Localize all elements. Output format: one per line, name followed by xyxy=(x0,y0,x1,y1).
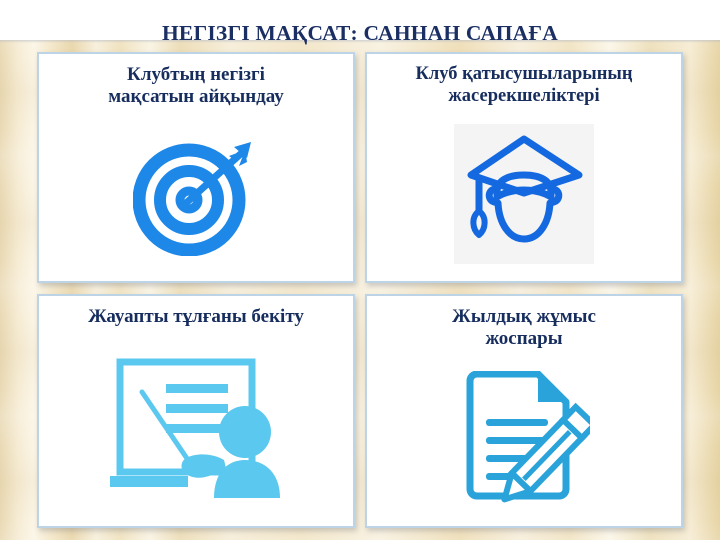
document-with-pencil-icon xyxy=(458,371,590,505)
card-responsible-art xyxy=(39,328,353,526)
card-plan-art xyxy=(367,351,681,526)
page-title: НЕГІЗГІ МАҚСАТ: САННАН САПАҒА xyxy=(0,21,720,46)
slide-canvas: НЕГІЗГІ МАҚСАТ: САННАН САПАҒА Клубтың не… xyxy=(0,0,720,540)
teacher-at-board-icon xyxy=(104,356,288,498)
card-goal-title: Клубтың негізгі мақсатын айқындау xyxy=(52,64,341,109)
card-age[interactable]: Клуб қатысушыларының жасерекшеліктері xyxy=(365,52,683,283)
target-with-arrow-icon xyxy=(133,134,259,256)
card-responsible[interactable]: Жауапты тұлғаны бекіту xyxy=(37,294,355,528)
card-plan[interactable]: Жылдық жұмыс жоспары xyxy=(365,294,683,528)
graduation-cap-icon xyxy=(461,131,587,257)
card-age-art xyxy=(367,108,681,281)
card-grid: Клубтың негізгі мақсатын айқындау xyxy=(37,52,683,528)
icon-plate xyxy=(454,124,594,264)
card-plan-title: Жылдық жұмыс жоспары xyxy=(380,306,669,351)
card-age-title: Клуб қатысушыларының жасерекшеліктері xyxy=(380,64,669,108)
card-responsible-title: Жауапты тұлғаны бекіту xyxy=(52,306,341,328)
card-goal[interactable]: Клубтың негізгі мақсатын айқындау xyxy=(37,52,355,283)
card-goal-art xyxy=(39,109,353,281)
